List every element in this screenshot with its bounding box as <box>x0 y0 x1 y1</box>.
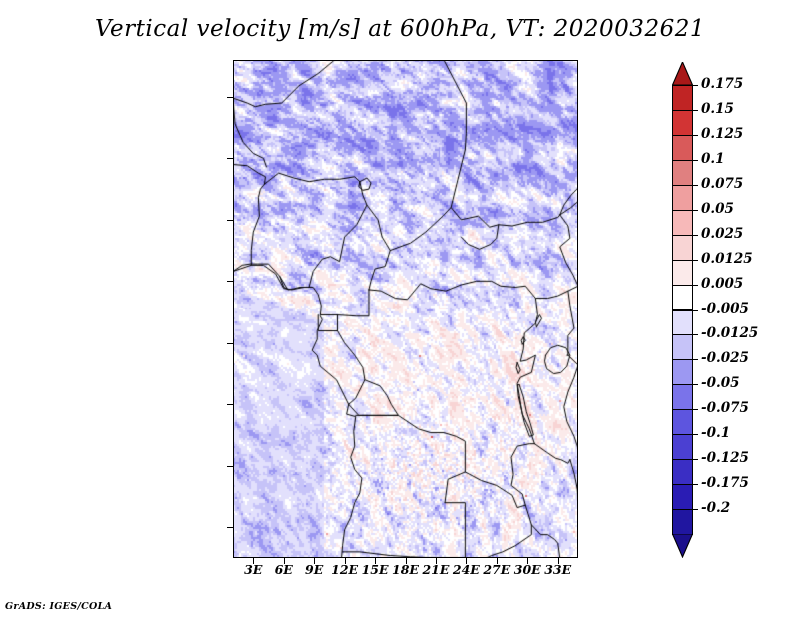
colorbar: 0.1750.150.1250.10.0750.050.0250.01250.0… <box>672 62 693 557</box>
colorbar-tick <box>693 459 698 460</box>
colorbar-band <box>672 185 693 211</box>
page-title: Vertical velocity [m/s] at 600hPa, VT: 2… <box>0 16 800 42</box>
colorbar-band <box>672 160 693 186</box>
colorbar-tick <box>693 260 698 261</box>
colorbar-band <box>672 409 693 435</box>
colorbar-tick <box>693 384 698 385</box>
colorbar-tick <box>693 135 698 136</box>
colorbar-max-arrow <box>672 62 693 86</box>
colorbar-label: -0.025 <box>701 350 749 366</box>
lon-label: 6E <box>268 562 300 577</box>
colorbar-tick <box>693 434 698 435</box>
colorbar-label: 0.175 <box>701 76 743 92</box>
lon-label: 15E <box>359 562 391 577</box>
colorbar-tick <box>693 285 698 286</box>
lat-tick <box>227 343 233 344</box>
lon-label: 18E <box>390 562 422 577</box>
colorbar-label: -0.005 <box>701 301 749 317</box>
colorbar-band <box>672 459 693 485</box>
colorbar-label: -0.2 <box>701 500 730 516</box>
colorbar-label: 0.0125 <box>701 251 753 267</box>
colorbar-tick <box>693 210 698 211</box>
colorbar-min-arrow <box>672 534 693 558</box>
colorbar-band <box>672 135 693 161</box>
colorbar-label: -0.1 <box>701 425 730 441</box>
colorbar-tick <box>693 85 698 86</box>
colorbar-tick <box>693 484 698 485</box>
grads-credit: GrADS: IGES/COLA <box>5 601 112 612</box>
colorbar-band <box>672 210 693 236</box>
colorbar-band <box>672 384 693 410</box>
lat-tick <box>227 158 233 159</box>
lat-tick <box>227 281 233 282</box>
colorbar-band <box>672 285 693 311</box>
colorbar-label: -0.175 <box>701 475 749 491</box>
lat-tick <box>227 527 233 528</box>
lon-label: 30E <box>511 562 543 577</box>
colorbar-band <box>672 310 693 336</box>
colorbar-tick <box>693 235 698 236</box>
colorbar-label: 0.075 <box>701 176 743 192</box>
colorbar-label: 0.005 <box>701 276 743 292</box>
lon-label: 24E <box>450 562 482 577</box>
colorbar-label: 0.025 <box>701 226 743 242</box>
lat-tick <box>227 97 233 98</box>
colorbar-band <box>672 434 693 460</box>
lon-label: 27E <box>481 562 513 577</box>
colorbar-label: 0.05 <box>701 201 734 217</box>
lon-label: 12E <box>329 562 361 577</box>
colorbar-band <box>672 235 693 261</box>
lon-label: 9E <box>298 562 330 577</box>
colorbar-band <box>672 85 693 111</box>
vertical-velocity-field <box>233 60 578 558</box>
colorbar-tick <box>693 310 698 311</box>
lon-label: 33E <box>542 562 574 577</box>
colorbar-band <box>672 359 693 385</box>
colorbar-tick <box>693 160 698 161</box>
colorbar-band <box>672 334 693 360</box>
colorbar-tick <box>693 509 698 510</box>
colorbar-tick <box>693 334 698 335</box>
colorbar-band <box>672 260 693 286</box>
colorbar-label: -0.05 <box>701 375 739 391</box>
colorbar-label: -0.075 <box>701 400 749 416</box>
colorbar-label: 0.1 <box>701 151 725 167</box>
lat-tick <box>227 220 233 221</box>
colorbar-label: -0.0125 <box>701 325 758 341</box>
colorbar-tick <box>693 110 698 111</box>
colorbar-label: 0.125 <box>701 126 743 142</box>
colorbar-band <box>672 509 693 535</box>
colorbar-label: -0.125 <box>701 450 749 466</box>
colorbar-band <box>672 110 693 136</box>
colorbar-band <box>672 484 693 510</box>
lat-tick <box>227 404 233 405</box>
colorbar-tick <box>693 409 698 410</box>
lon-label: 3E <box>237 562 269 577</box>
colorbar-tick <box>693 359 698 360</box>
colorbar-label: 0.15 <box>701 101 734 117</box>
lat-tick <box>227 466 233 467</box>
colorbar-tick <box>693 185 698 186</box>
lon-label: 21E <box>420 562 452 577</box>
map-plot-area <box>233 60 578 558</box>
